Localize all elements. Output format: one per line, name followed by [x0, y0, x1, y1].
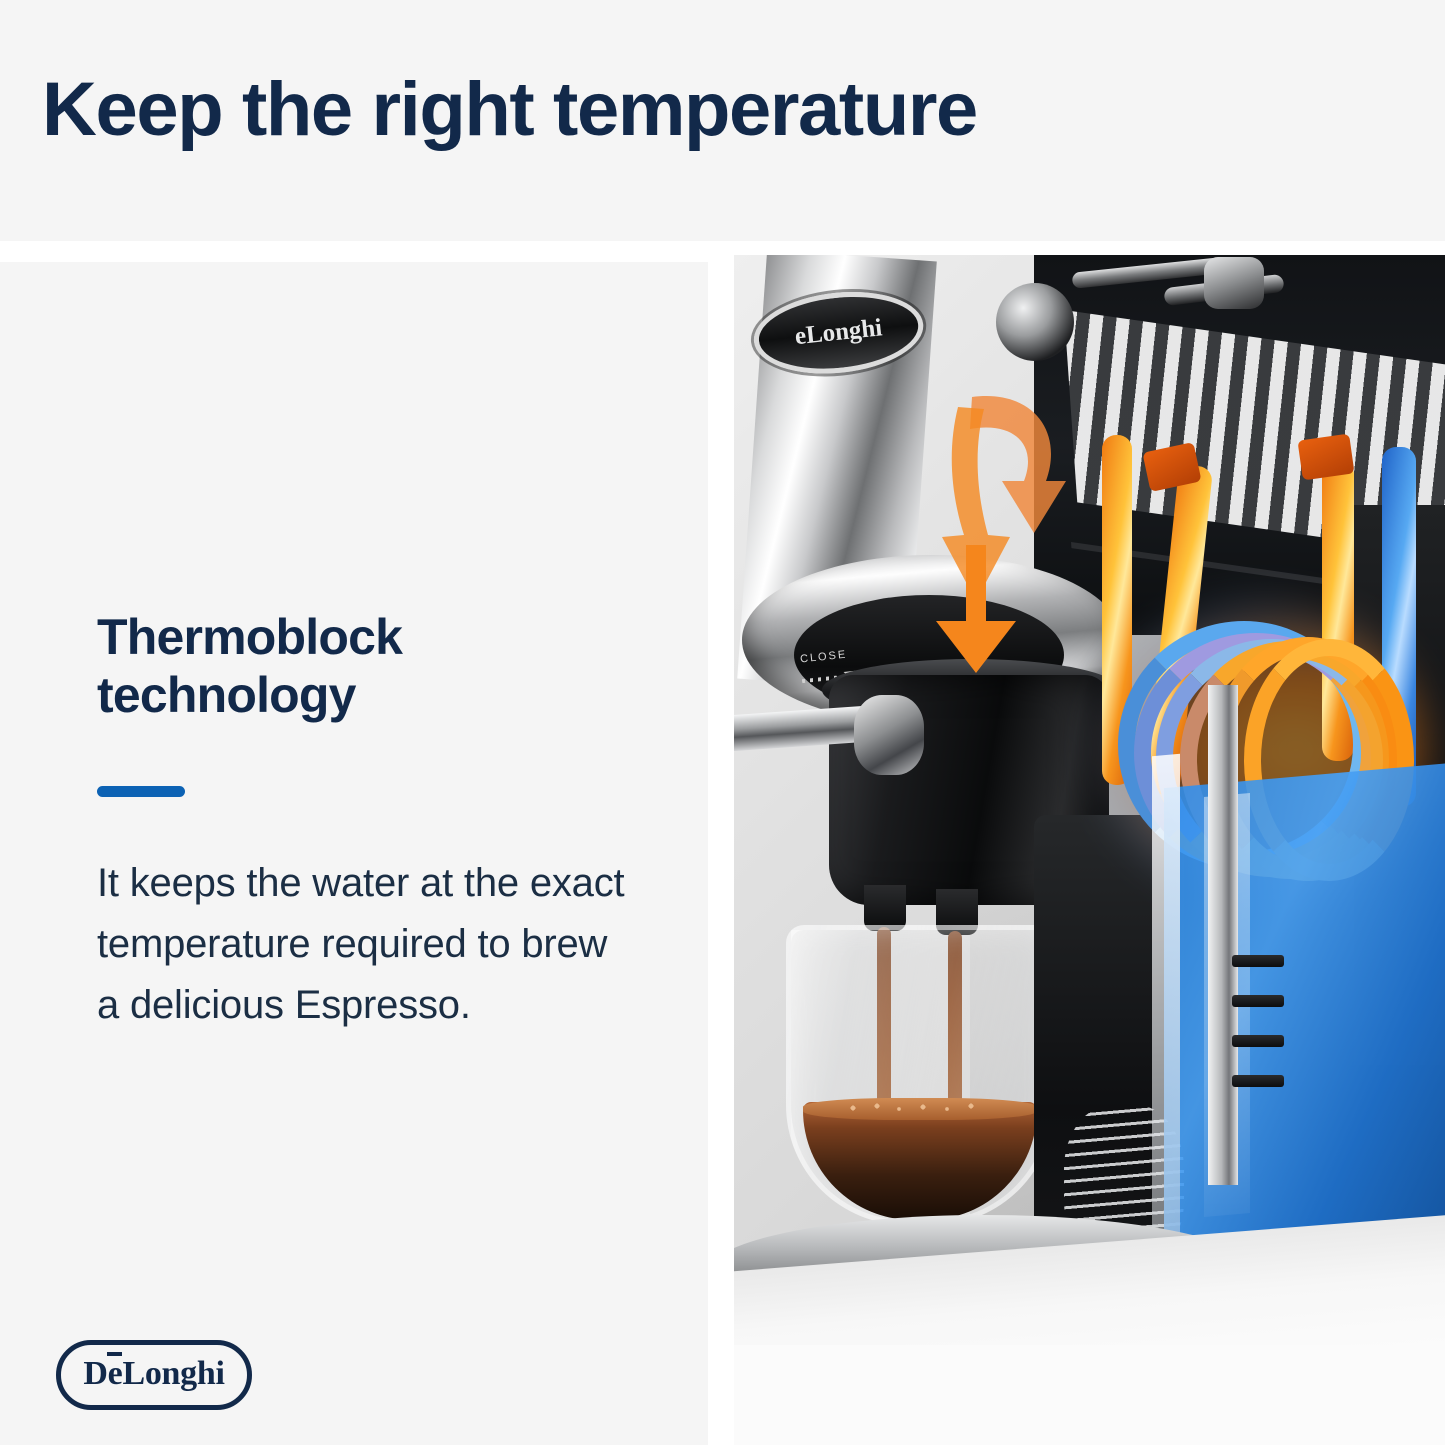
- delonghi-logo-text: DeLonghi: [83, 1355, 224, 1393]
- espresso-glass-cup: [786, 925, 1054, 1225]
- tank-rung-2: [1232, 995, 1284, 1007]
- delonghi-logo: DeLonghi: [56, 1340, 252, 1410]
- feature-heading-line-2: technology: [97, 667, 356, 723]
- tank-rung-3: [1232, 1035, 1284, 1047]
- feature-block: Thermoblock technology It keeps the wate…: [97, 608, 637, 1035]
- machine-cylinder: [1204, 257, 1264, 309]
- feature-heading: Thermoblock technology: [97, 608, 637, 724]
- machine-brand-badge-text: eLonghi: [794, 314, 884, 351]
- header-band: Keep the right temperature: [0, 0, 1445, 241]
- water-tank-edge: [1152, 754, 1180, 1256]
- portafilter-handle-cap: [854, 695, 924, 775]
- tank-rung-4: [1232, 1075, 1284, 1087]
- logo-letter-e-macron: e: [108, 1355, 123, 1393]
- coil-mount-clip-right: [1297, 434, 1354, 481]
- espresso-bubbles: [843, 1102, 993, 1114]
- page-title: Keep the right temperature: [42, 70, 977, 150]
- pressure-gauge-knob: [996, 283, 1074, 361]
- feature-body-text: It keeps the water at the exact temperat…: [97, 853, 637, 1035]
- machine-brand-badge: eLonghi: [750, 284, 927, 381]
- promo-card: Keep the right temperature Thermoblock t…: [0, 0, 1445, 1445]
- logo-letter-rest: Longhi: [122, 1355, 224, 1392]
- logo-letter-d: D: [83, 1355, 107, 1392]
- water-flow-arrow-icon: [914, 385, 1074, 675]
- machine-chrome-rail: [1208, 685, 1238, 1185]
- countertop-front: [734, 1345, 1445, 1445]
- accent-divider: [97, 786, 185, 797]
- espresso-machine-photo: eLonghi CLOSE: [734, 255, 1445, 1445]
- tank-rung-1: [1232, 955, 1284, 967]
- text-panel: Thermoblock technology It keeps the wate…: [0, 262, 708, 1445]
- feature-heading-line-1: Thermoblock: [97, 609, 402, 665]
- photo-gutter: [708, 262, 734, 1445]
